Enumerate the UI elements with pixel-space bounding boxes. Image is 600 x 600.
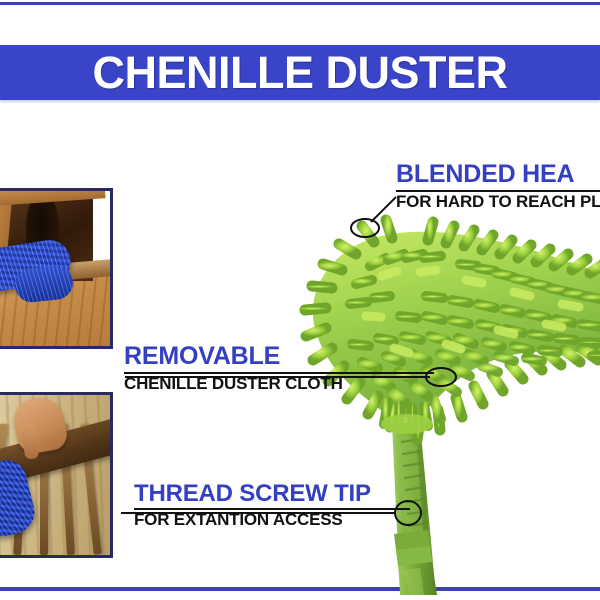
callout-blended-head: BLENDED HEA FOR HARD TO REACH PL bbox=[396, 162, 600, 210]
thumbnail-duster-on-chair bbox=[0, 392, 113, 558]
thumbnail-2-photo bbox=[0, 395, 110, 555]
product-infographic: CHENILLE DUSTER bbox=[0, 0, 600, 600]
callout-blended-head-subtitle: FOR HARD TO REACH PL bbox=[396, 193, 600, 211]
frame-rule-top bbox=[0, 2, 600, 5]
callout-removable: REMOVABLE CHENILLE DUSTER CLOTH bbox=[124, 344, 434, 392]
callout-thread-screw-tip: THREAD SCREW TIP FOR EXTANTION ACCESS bbox=[134, 482, 410, 529]
callout-removable-subtitle: CHENILLE DUSTER CLOTH bbox=[124, 375, 434, 393]
callout-thread-screw-tip-title: THREAD SCREW TIP bbox=[134, 482, 410, 506]
page-title: CHENILLE DUSTER bbox=[92, 50, 507, 95]
header-banner: CHENILLE DUSTER bbox=[0, 45, 600, 100]
thumbnail-duster-under-furniture bbox=[0, 188, 113, 349]
callout-thread-screw-tip-subtitle: FOR EXTANTION ACCESS bbox=[134, 511, 410, 529]
callout-removable-title: REMOVABLE bbox=[124, 344, 434, 370]
thumbnail-1-photo bbox=[0, 191, 110, 346]
callout-blended-head-title: BLENDED HEA bbox=[396, 162, 600, 188]
